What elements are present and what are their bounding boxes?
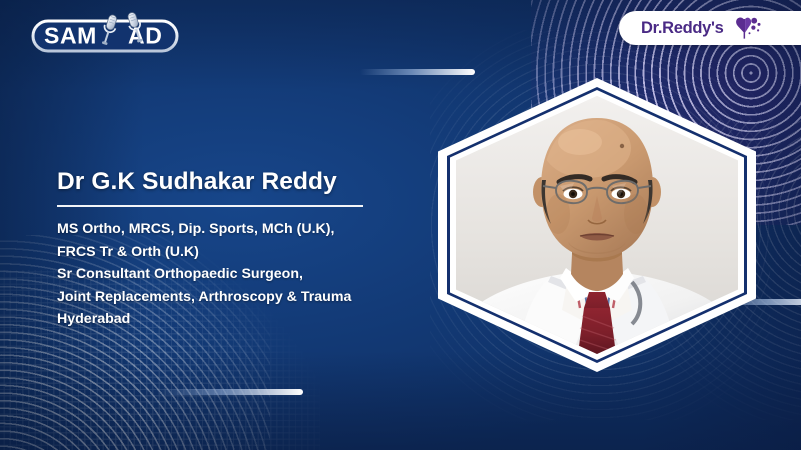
accent-bar-top — [360, 69, 475, 75]
doctor-name: Dr G.K Sudhakar Reddy — [57, 168, 417, 196]
credential-line-2: FRCS Tr & Orth (U.K) — [57, 241, 417, 264]
accent-bar-bottom — [158, 389, 303, 395]
credential-line-5: Hyderabad — [57, 308, 417, 331]
credential-line-4: Joint Replacements, Arthroscopy & Trauma — [57, 286, 417, 309]
credential-line-3: Sr Consultant Orthopaedic Surgeon, — [57, 263, 417, 286]
samvad-logo-graphic: SAM AD — [22, 10, 188, 56]
doctor-profile-card: SAM AD D — [0, 0, 801, 450]
credential-line-1: MS Ortho, MRCS, Dip. Sports, MCh (U.K), — [57, 218, 417, 241]
reddys-heart-dots-icon — [731, 16, 761, 40]
name-divider — [57, 205, 363, 207]
svg-text:SAM: SAM — [44, 23, 97, 49]
doctor-portrait-hexagon — [438, 78, 756, 372]
sponsor-logo-dr-reddys[interactable]: Dr.Reddy's — [619, 11, 801, 45]
samvad-logo[interactable]: SAM AD — [22, 10, 188, 56]
doctor-info-block: Dr G.K Sudhakar Reddy MS Ortho, MRCS, Di… — [57, 168, 417, 331]
sponsor-logo-text: Dr.Reddy's — [641, 19, 724, 38]
